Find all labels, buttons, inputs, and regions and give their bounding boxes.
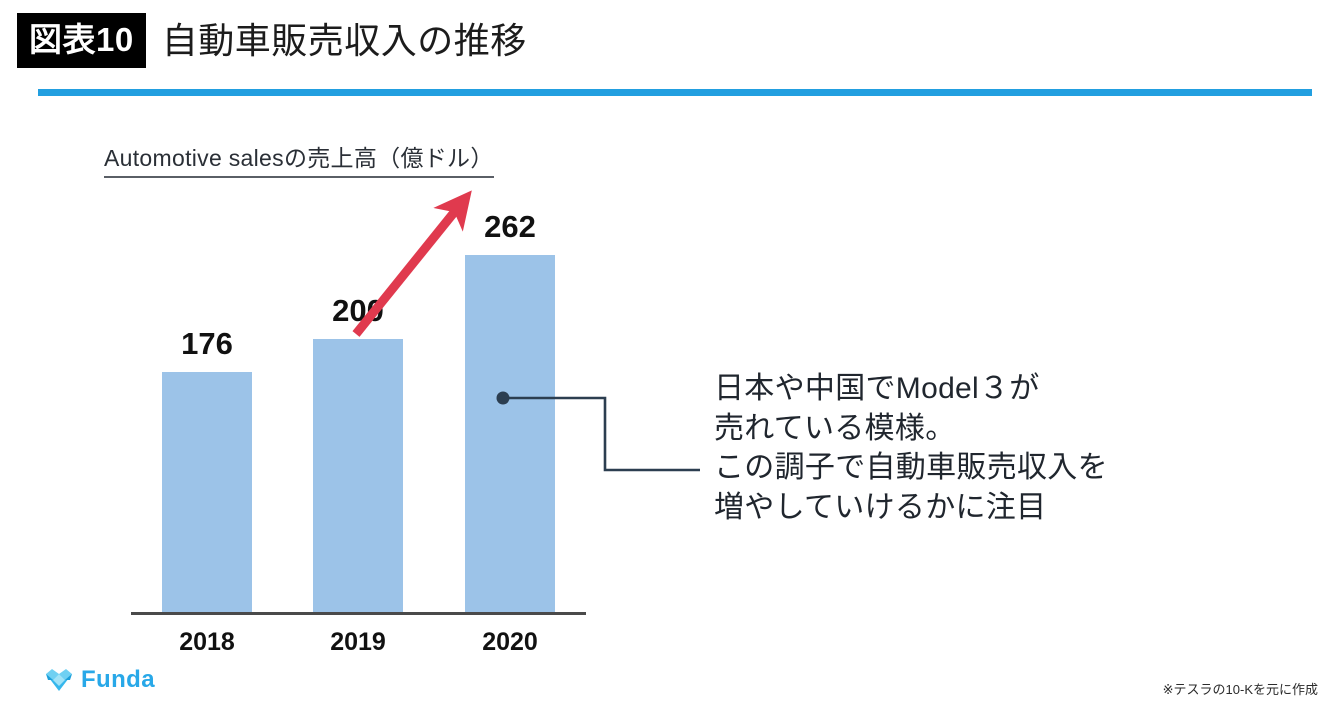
bar-2018 xyxy=(162,372,252,612)
page-title: 自動車販売収入の推移 xyxy=(162,23,527,59)
chart-caption: Automotive salesの売上高（億ドル） xyxy=(104,139,494,178)
source-note: ※テスラの10-Kを元に作成 xyxy=(1163,679,1318,698)
slide-header: 図表10 自動車販売収入の推移 xyxy=(17,13,527,68)
x-axis-label-2018: 2018 xyxy=(127,630,287,655)
bar-2020 xyxy=(465,255,555,612)
callout-annotation: 日本や中国でModel３が 売れている模様。 この調子で自動車販売収入を 増やし… xyxy=(714,369,1108,527)
funda-gem-icon xyxy=(44,667,74,693)
header-accent-rule xyxy=(38,89,1312,96)
bar-value-label-2020: 262 xyxy=(430,211,590,242)
x-axis-line xyxy=(131,612,586,615)
figure-number-badge: 図表10 xyxy=(17,13,146,68)
bar-2019 xyxy=(313,339,403,612)
x-axis-label-2019: 2019 xyxy=(278,630,438,655)
x-axis-label-2020: 2020 xyxy=(430,630,590,655)
brand-name: Funda xyxy=(81,668,155,692)
slide-canvas: 図表10 自動車販売収入の推移 Automotive salesの売上高（億ドル… xyxy=(0,0,1340,704)
brand-logo: Funda xyxy=(44,667,155,693)
bar-value-label-2018: 176 xyxy=(127,328,287,359)
bar-value-label-2019: 200 xyxy=(278,295,438,326)
